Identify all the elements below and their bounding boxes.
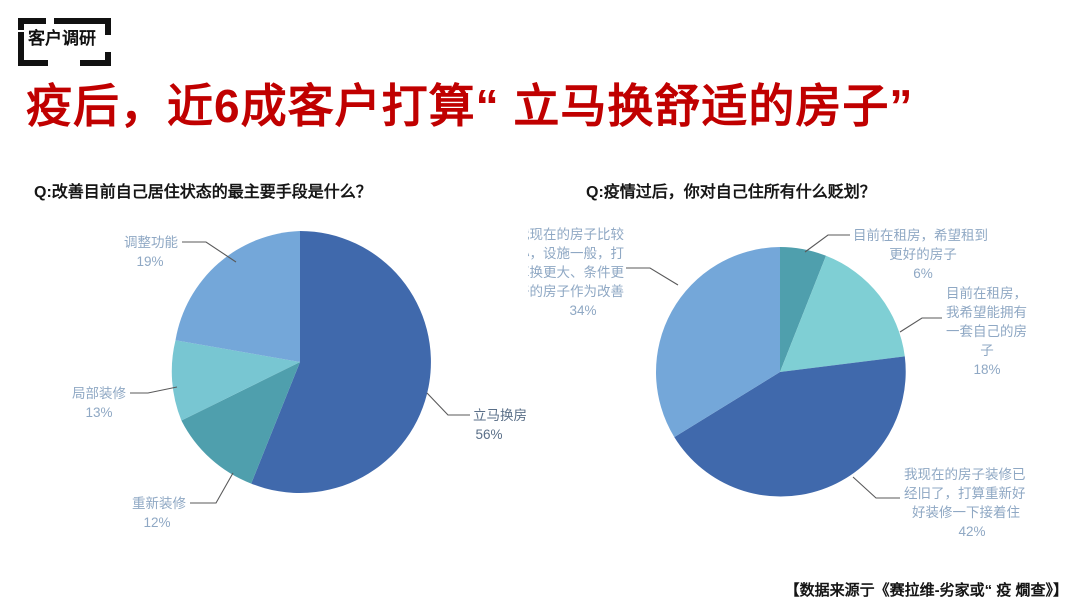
pie-slices [656,247,906,497]
slice-label-huan-gengda-l4: 好的房子作为改善 [528,284,624,299]
slice-label-chongxin-zhuangxiu-l2: 经旧了，打算重新好 [904,485,1026,501]
slice-label-huan-gengda-l3: 算换更大、条件更 [528,264,624,280]
leader-line-huan-gengda [626,268,678,285]
leader-line-chongxin [190,473,233,503]
slice-label-lima-name: 立马换房 [473,408,527,423]
slice-label-chongxin-value: 12% [143,515,170,530]
pie-chart-left: 立马换房 56% 重新装修 12% 局部装修 13% 调整功能 19% [20,215,540,545]
pie-slice-tiaozheng-gongneng[interactable] [176,231,301,362]
bracket-edge [105,18,111,35]
bracket-edge [80,60,111,66]
leader-line-zufang-genghao [805,235,850,252]
slice-label-zufang-yongyou-l1: 目前在租房， [946,285,1027,301]
slice-label-huan-gengda-l1: 我现在的房子比较 [528,227,624,242]
source-footnote: 【数据来源亍《赛拉维-劣家或“ 疫 燗查》】 [785,579,1068,600]
slice-label-huan-gengda-value: 34% [569,303,596,318]
slice-label-zufang-yongyou-value: 18% [973,362,1000,377]
slice-label-jubu-value: 13% [85,405,112,420]
page-title: 疫后，近6成客户打算“ 立马换舒适的房子” [26,82,913,130]
slice-label-chongxin-zhuangxiu-l1: 我现在的房子装修已 [904,467,1026,482]
slice-label-lima-value: 56% [475,427,502,442]
slice-label-jubu-name: 局部装修 [72,386,126,401]
slice-label-zufang-genghao-value: 6% [913,266,933,281]
slice-label-zufang-yongyou-l4: 子 [980,343,994,358]
badge-label: 客户调研 [28,24,96,49]
pie-chart-right: 目前在租房，希望租到 更好的房子 6% 目前在租房， 我希望能拥有 一套自己的房… [528,215,1080,560]
slice-label-zufang-genghao-l2: 更好的房子 [889,247,957,262]
leader-line-chongxin-zhuangxiu [853,477,900,498]
slice-label-zufang-genghao-l1: 目前在租房，希望租到 [853,227,988,243]
slice-label-zufang-yongyou-l3: 一套自己的房 [946,324,1027,339]
leader-line-lima [427,393,470,415]
slice-label-chongxin-zhuangxiu-value: 42% [958,524,985,539]
bracket-edge [18,60,48,66]
question-heading-right: Q:疫情过后，你对自己住所有什么贬划？ [586,178,876,202]
question-heading-left: Q:改善目前自己居住状态的最主要手段是什么？ [34,178,372,202]
slice-label-tiaozheng-value: 19% [136,254,163,269]
slice-label-chongxin-name: 重新装修 [132,496,186,511]
slice-label-zufang-yongyou-l2: 我希望能拥有 [946,305,1027,320]
leader-line-zufang-yongyou [900,318,942,332]
slice-label-huan-gengda-l2: 小，设施一般，打 [528,245,624,261]
leader-line-jubu [130,387,177,393]
slice-label-tiaozheng-name: 调整功能 [124,235,178,250]
pie-slices [172,231,431,493]
slice-label-chongxin-zhuangxiu-l3: 好装修一下接着住 [912,504,1020,520]
